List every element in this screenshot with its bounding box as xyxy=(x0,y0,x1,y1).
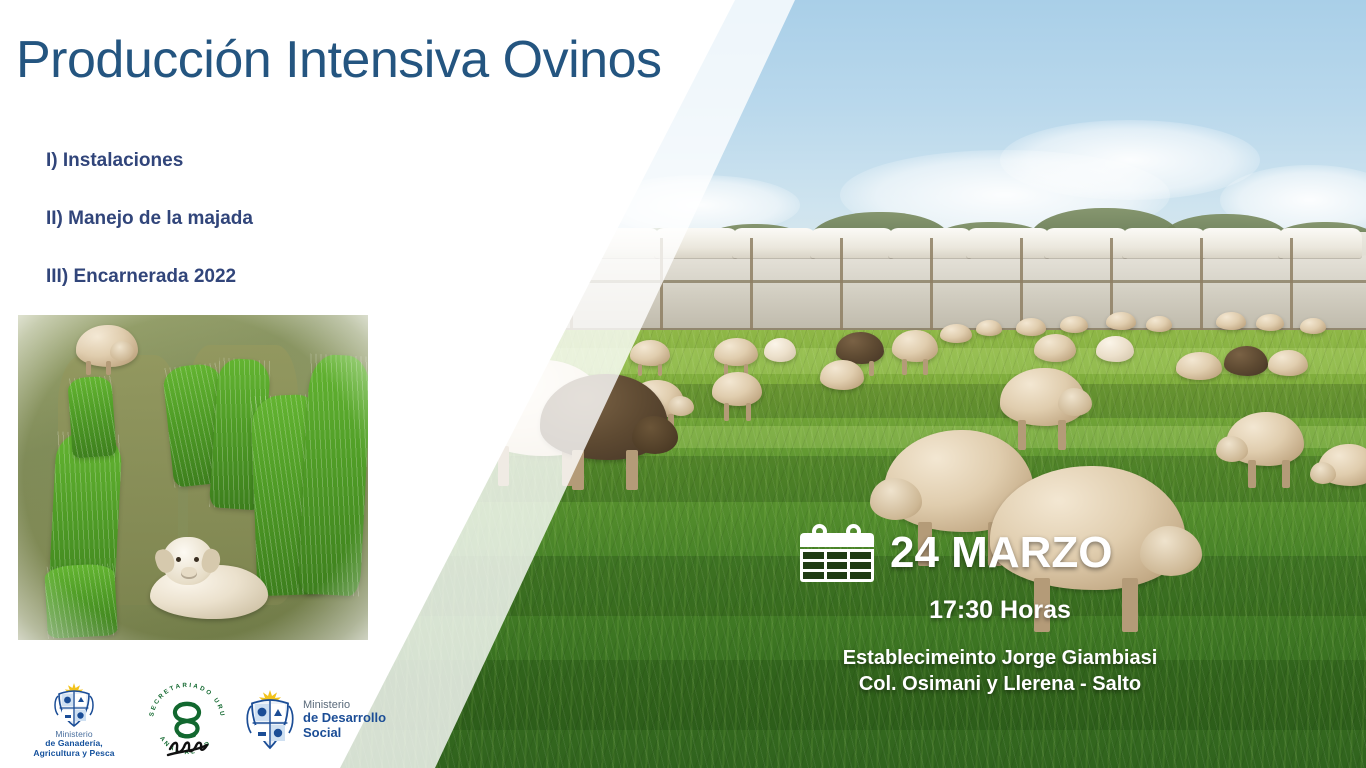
sheep xyxy=(1106,312,1136,330)
sheep xyxy=(712,372,762,406)
slide-canvas: Producción Intensiva Ovinos I) Instalaci… xyxy=(0,0,1366,768)
mgap-logo: Ministerio de Ganadería, Agricultura y P… xyxy=(18,682,130,759)
event-location-line-2: Col. Osimani y Llerena - Salto xyxy=(800,671,1200,697)
mides-logo-line-3: Social xyxy=(303,726,386,741)
event-time: 17:30 Horas xyxy=(800,596,1200,625)
agenda-item-2: II) Manejo de la majada xyxy=(46,208,253,230)
agenda-item-1: I) Instalaciones xyxy=(46,150,253,172)
mides-logo-text: Ministerio de Desarrollo Social xyxy=(303,699,386,742)
sheep xyxy=(1318,444,1366,486)
guardian-dog xyxy=(150,537,268,623)
sheep xyxy=(714,338,758,366)
event-details: 24 MARZO 17:30 Horas Establecimeinto Jor… xyxy=(800,524,1200,698)
logo-bar: Ministerio de Ganadería, Agricultura y P… xyxy=(18,676,386,764)
sheep xyxy=(764,338,796,362)
event-location: Establecimeinto Jorge Giambiasi Col. Osi… xyxy=(800,645,1200,698)
agenda-list: I) Instalaciones II) Manejo de la majada… xyxy=(46,150,253,324)
event-location-line-1: Establecimeinto Jorge Giambiasi xyxy=(800,645,1200,671)
mgap-logo-text: Ministerio de Ganadería, Agricultura y P… xyxy=(33,730,114,759)
sheep xyxy=(1226,412,1304,466)
svg-text:SECRETARIADO URUGUAYO: SECRETARIADO URUGUAYO xyxy=(144,679,226,718)
sheep xyxy=(976,320,1002,336)
sul-logo: SECRETARIADO URUGUAYO ANAL AL ED xyxy=(144,679,230,761)
sheep xyxy=(1146,316,1172,332)
sheep xyxy=(76,325,138,367)
sheep xyxy=(1060,316,1088,333)
sheep xyxy=(1034,334,1076,362)
sheep xyxy=(1256,314,1284,331)
agenda-item-3: III) Encarnerada 2022 xyxy=(46,266,253,288)
crop-rows-with-sheep-and-guardian-dog xyxy=(18,315,368,640)
sheep xyxy=(1216,312,1246,330)
sheep xyxy=(630,340,670,366)
calendar-icon xyxy=(800,524,874,582)
sheep xyxy=(820,360,864,390)
sheep xyxy=(1000,368,1086,426)
mides-logo: Ministerio de Desarrollo Social xyxy=(244,689,386,751)
sheep xyxy=(940,324,972,343)
mides-logo-line-2: de Desarrollo xyxy=(303,711,386,726)
sheep xyxy=(1176,352,1222,380)
uruguay-coat-of-arms-icon xyxy=(52,682,96,728)
sul-wool-knot-icon: SECRETARIADO URUGUAYO ANAL AL ED xyxy=(144,679,230,761)
sheep xyxy=(1300,318,1326,334)
uruguay-coat-of-arms-icon xyxy=(244,689,296,751)
sheep xyxy=(892,330,938,362)
sheep xyxy=(1224,346,1268,376)
date-row: 24 MARZO xyxy=(800,524,1200,582)
sheep xyxy=(1268,350,1308,376)
event-date: 24 MARZO xyxy=(890,531,1112,575)
mgap-logo-line-3: Agricultura y Pesca xyxy=(33,749,114,759)
page-title: Producción Intensiva Ovinos xyxy=(16,30,662,90)
sheep xyxy=(1096,336,1134,362)
